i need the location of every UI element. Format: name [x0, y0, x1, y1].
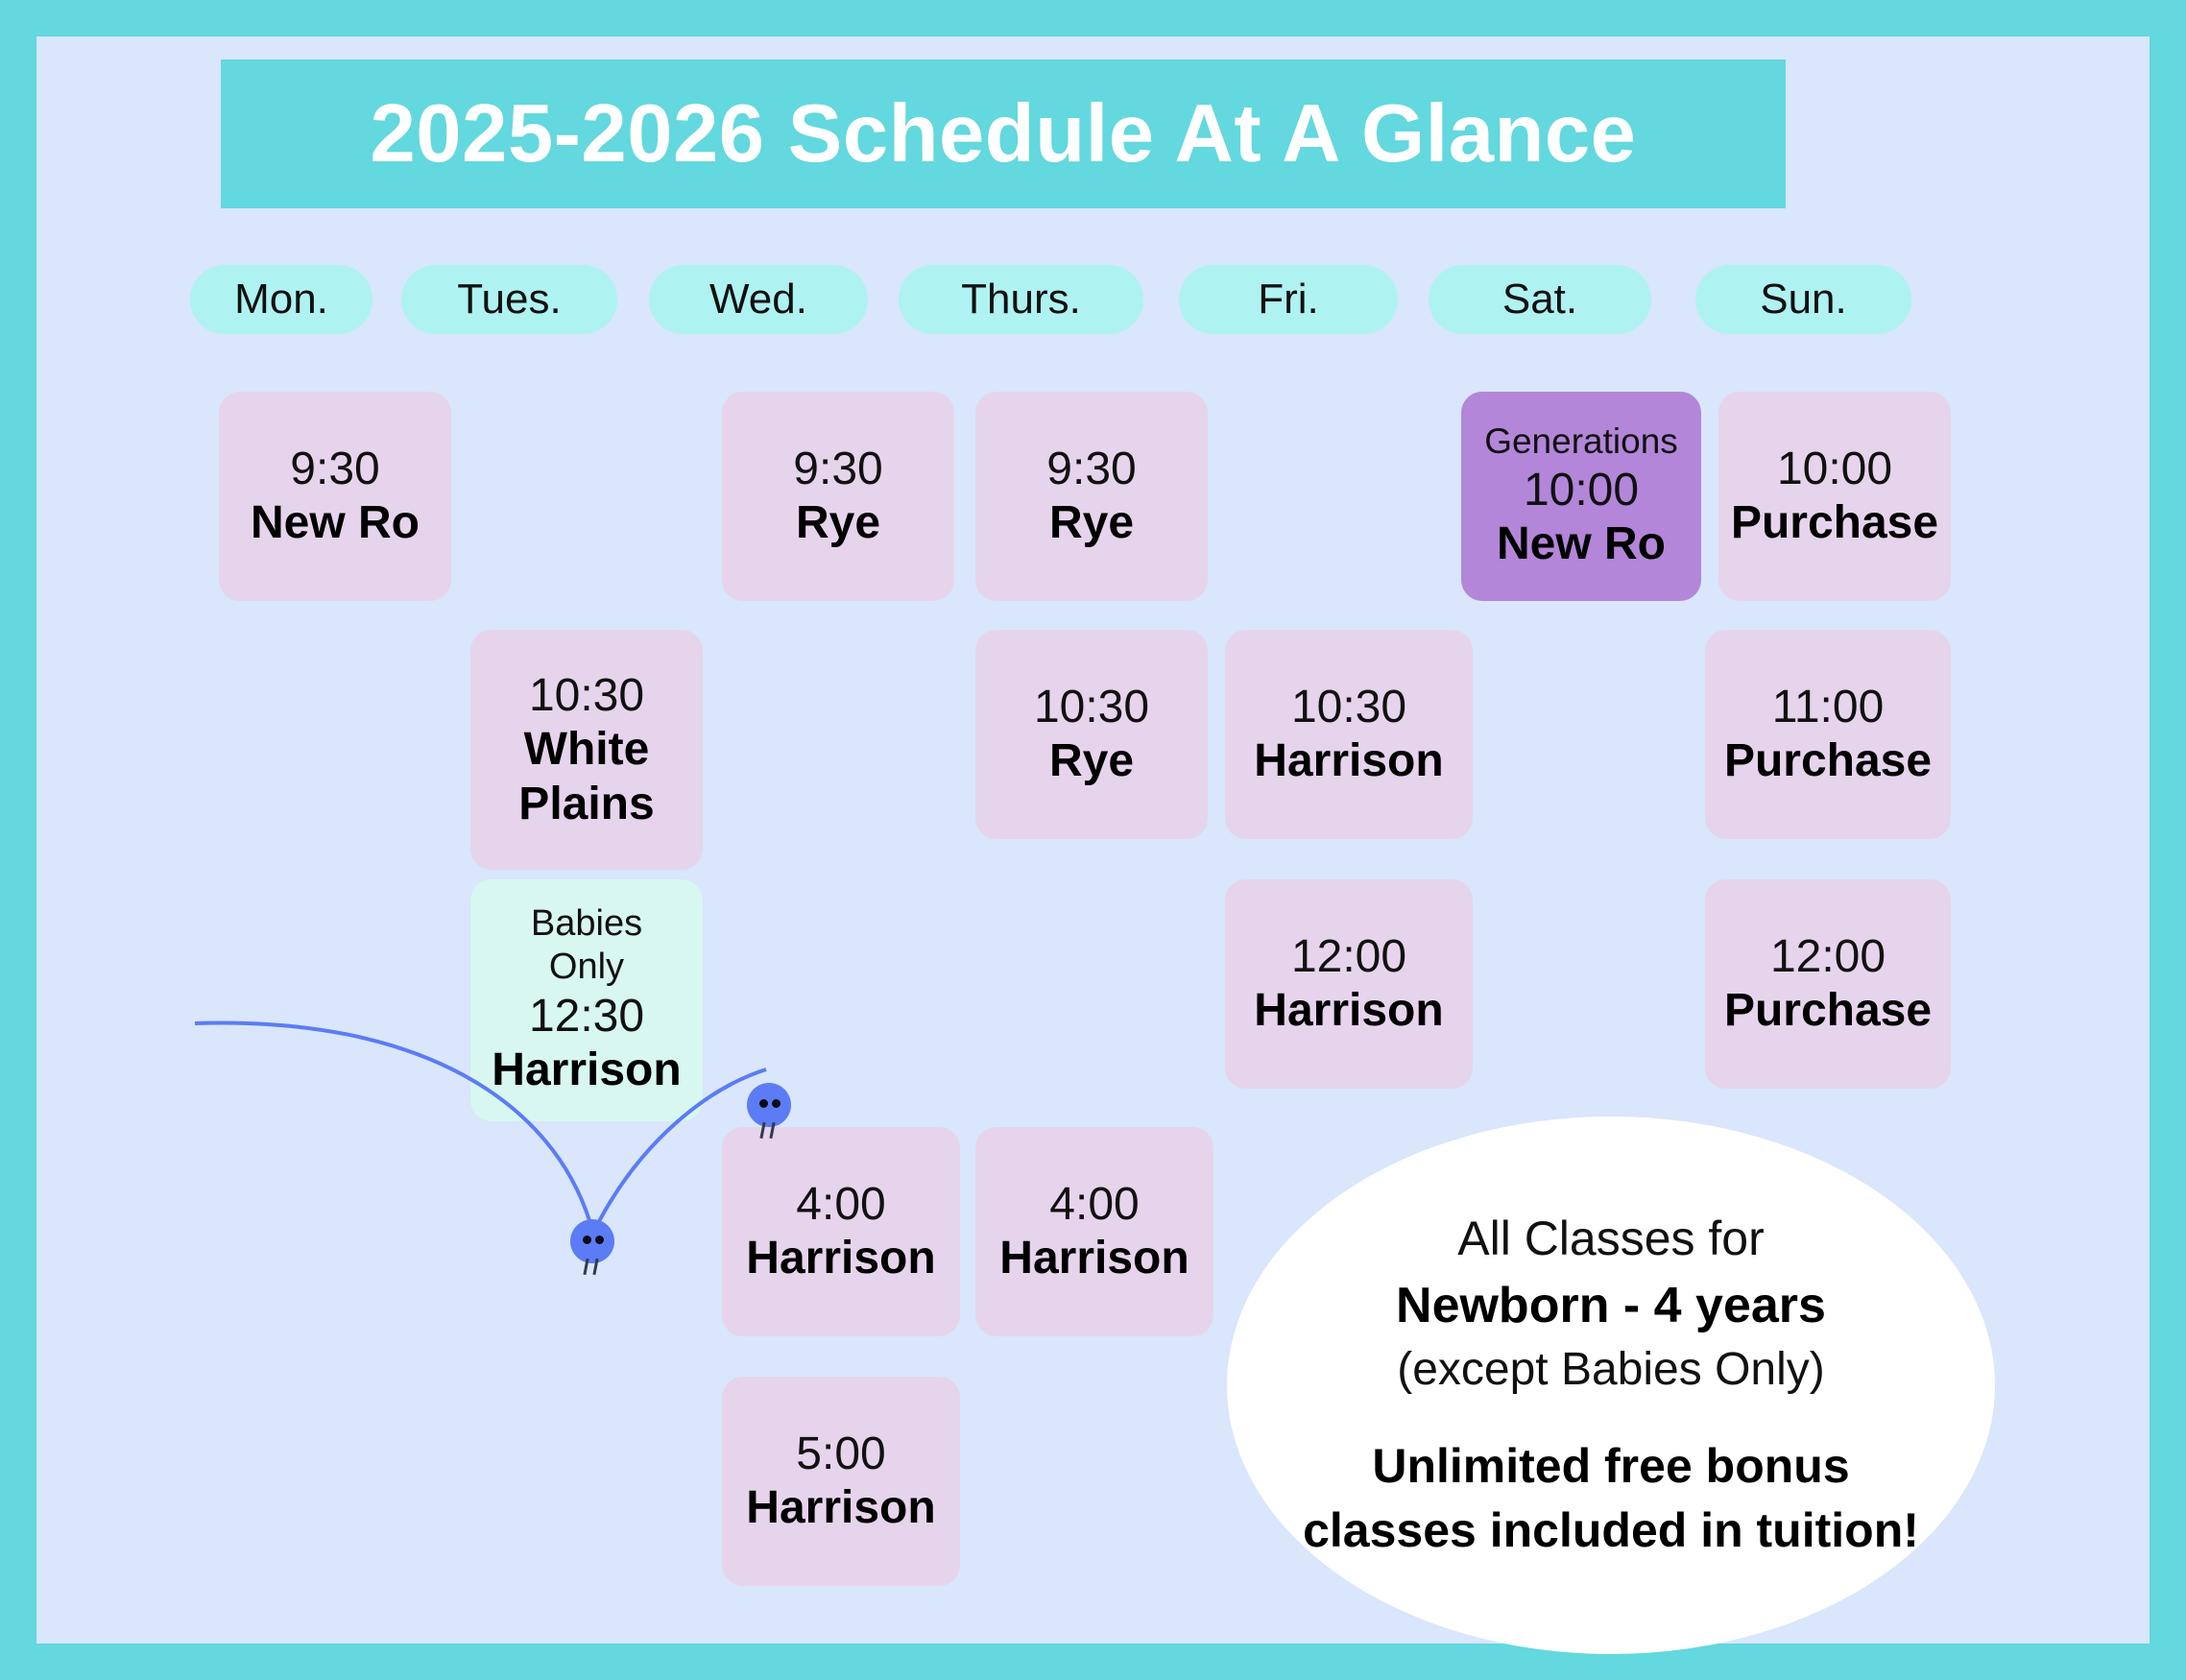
class-card-fri-1030[interactable]: 10:30 Harrison	[1225, 630, 1473, 839]
class-card-fri-1200[interactable]: 12:00 Harrison	[1225, 879, 1473, 1089]
class-card-thurs-930[interactable]: 9:30 Rye	[975, 392, 1208, 601]
class-card-tues-babies-1230[interactable]: Babies Only 12:30 Harrison	[470, 879, 703, 1121]
class-time: 9:30	[1046, 442, 1136, 497]
class-time: 4:00	[1049, 1177, 1139, 1233]
class-card-wed-930[interactable]: 9:30 Rye	[722, 392, 954, 601]
bug-icon-lower	[570, 1219, 614, 1263]
class-time: 10:00	[1524, 463, 1639, 518]
class-location: Harrison	[1254, 734, 1443, 789]
class-time: 10:30	[529, 668, 644, 724]
callout-line-4: Unlimited free bonus classes included in…	[1303, 1434, 1919, 1564]
title-banner: 2025-2026 Schedule At A Glance	[221, 60, 1786, 208]
class-location: New Ro	[1497, 517, 1666, 572]
callout-line-1: All Classes for	[1457, 1207, 1765, 1272]
class-time: 9:30	[290, 442, 379, 497]
class-card-thurs-1030[interactable]: 10:30 Rye	[975, 630, 1208, 839]
schedule-poster: 2025-2026 Schedule At A Glance Mon. Tues…	[0, 0, 2186, 1680]
class-card-sun-1000[interactable]: 10:00 Purchase	[1718, 392, 1951, 601]
callout-oval: All Classes for Newborn - 4 years (excep…	[1227, 1116, 1995, 1654]
bug-eye-left	[759, 1099, 768, 1108]
class-card-sun-1200[interactable]: 12:00 Purchase	[1705, 879, 1951, 1089]
class-card-tues-1030[interactable]: 10:30 White Plains	[470, 630, 703, 870]
class-time: 9:30	[793, 442, 882, 497]
class-location: Harrison	[746, 1232, 935, 1286]
class-location: Harrison	[1254, 984, 1443, 1039]
day-header-thurs: Thurs.	[899, 265, 1143, 334]
class-time: 10:30	[1034, 680, 1149, 735]
class-location: Harrison	[492, 1044, 681, 1098]
class-card-thurs-400[interactable]: 4:00 Harrison	[975, 1127, 1213, 1336]
class-location: Purchase	[1731, 496, 1938, 551]
class-card-wed-500[interactable]: 5:00 Harrison	[722, 1377, 960, 1586]
bug-eye-left	[583, 1236, 591, 1244]
day-header-wed: Wed.	[649, 265, 868, 334]
class-time: 12:30	[529, 989, 644, 1044]
class-time: 12:00	[1770, 929, 1886, 985]
class-card-wed-400[interactable]: 4:00 Harrison	[722, 1127, 960, 1336]
poster-inner-area: 2025-2026 Schedule At A Glance Mon. Tues…	[36, 36, 2150, 1644]
class-location: Harrison	[999, 1232, 1189, 1286]
page-title: 2025-2026 Schedule At A Glance	[371, 93, 1637, 175]
class-card-mon-930[interactable]: 9:30 New Ro	[219, 392, 451, 601]
class-location: Harrison	[746, 1481, 935, 1536]
class-time: 10:30	[1291, 680, 1406, 735]
class-location: Purchase	[1724, 984, 1932, 1039]
class-location: Rye	[1049, 734, 1134, 789]
class-tag: Generations	[1484, 420, 1678, 463]
bug-body	[747, 1083, 791, 1127]
bug-eye-right	[595, 1236, 604, 1244]
class-time: 10:00	[1777, 442, 1892, 497]
day-header-sat: Sat.	[1429, 265, 1651, 334]
day-header-sun: Sun.	[1695, 265, 1911, 334]
bug-eye-right	[772, 1099, 781, 1108]
bug-body	[570, 1219, 614, 1263]
day-header-fri: Fri.	[1179, 265, 1398, 334]
callout-line-3: (except Babies Only)	[1397, 1339, 1825, 1402]
class-location: White Plains	[518, 723, 654, 831]
class-time: 11:00	[1772, 680, 1885, 735]
class-time: 4:00	[796, 1177, 885, 1233]
day-header-tues: Tues.	[401, 265, 617, 334]
bug-icon-upper	[747, 1083, 791, 1127]
class-time: 5:00	[796, 1427, 885, 1482]
class-tag: Babies Only	[531, 902, 642, 989]
class-location: Rye	[796, 496, 880, 551]
class-location: Rye	[1049, 496, 1134, 551]
class-location: New Ro	[251, 496, 420, 551]
class-card-sun-1100[interactable]: 11:00 Purchase	[1705, 630, 1951, 839]
callout-line-2: Newborn - 4 years	[1396, 1272, 1826, 1339]
class-time: 12:00	[1291, 929, 1406, 985]
class-card-sat-generations-1000[interactable]: Generations 10:00 New Ro	[1461, 392, 1701, 601]
class-location: Purchase	[1724, 734, 1932, 789]
day-header-mon: Mon.	[190, 265, 372, 334]
